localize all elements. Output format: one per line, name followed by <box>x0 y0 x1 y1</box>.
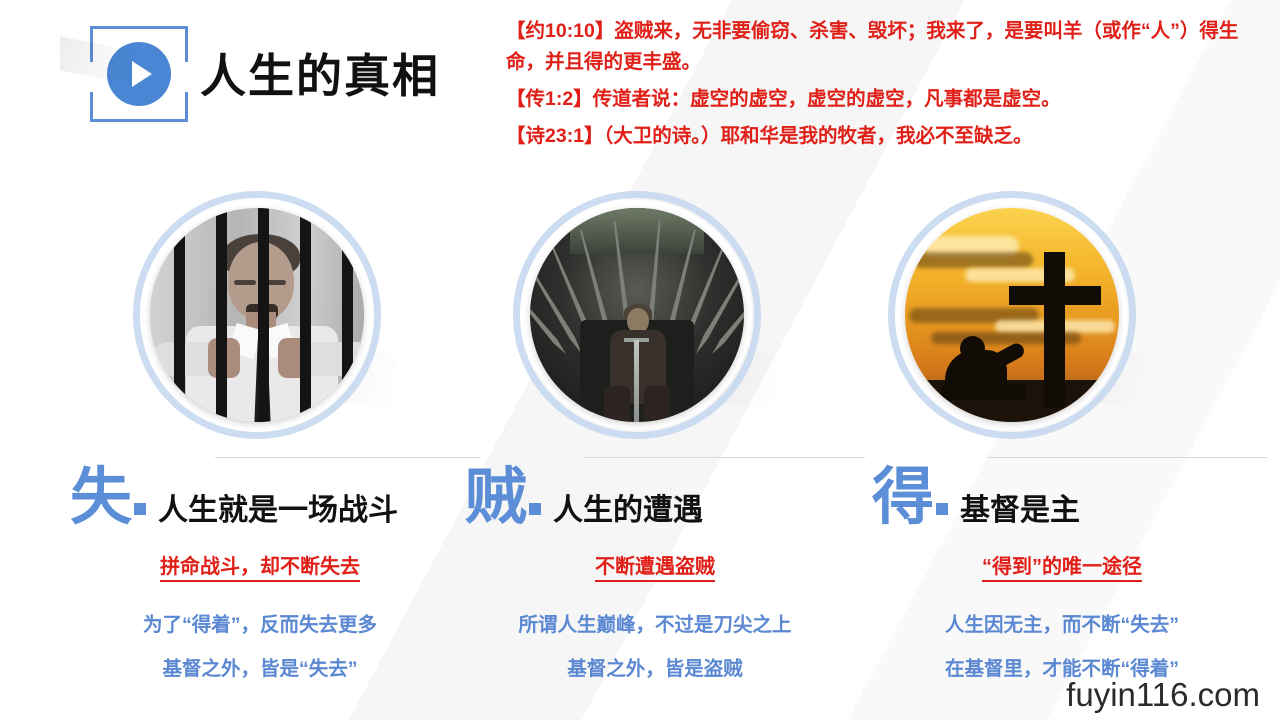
throne-backdrop <box>570 208 704 254</box>
column-1-rule <box>215 457 480 458</box>
column-3-dot <box>936 503 948 515</box>
cloud-2 <box>913 252 1033 268</box>
scene-throne <box>530 208 744 422</box>
king-leg-left <box>604 386 630 422</box>
column-3-rule <box>987 457 1267 458</box>
throne-of-swords-photo <box>530 208 744 422</box>
grayscale-overlay <box>150 208 364 422</box>
praying-person-head <box>960 336 985 361</box>
column-2-rule <box>585 457 865 458</box>
column-1-heading: 失人生就是一场战斗 <box>70 467 398 529</box>
throne-sword-10 <box>707 279 744 358</box>
column-2-heading: 贼人生的遭遇 <box>465 467 703 529</box>
column-1-sub-head: 人生就是一场战斗 <box>158 485 398 529</box>
photo-circle-2 <box>513 191 761 439</box>
column-1-big-char: 失 <box>70 467 132 529</box>
column-3-blue-line-1: 人生因无主，而不断“失去” <box>862 608 1262 637</box>
scripture-verse-2: 【传1:2】传道者说：虚空的虚空，虚空的虚空，凡事都是虚空。 <box>506 84 1276 115</box>
column-3-heading: 得基督是主 <box>872 467 1080 529</box>
site-watermark: fuyin116.com <box>1066 676 1260 714</box>
photo-circle-1 <box>133 191 381 439</box>
column-1-red-line: 拼命战斗，却不断失去 <box>60 550 460 579</box>
king-leg-right <box>644 386 670 422</box>
slide-header: 人生的真相 【约10:10】盗贼来，无非要偷窃、杀害、毁坏；我来了，是要叫羊（或… <box>0 0 1280 165</box>
praying-person-arms <box>989 341 1026 370</box>
column-2-blue-line-2: 基督之外，皆是盗贼 <box>455 652 855 681</box>
scripture-verse-1: 【约10:10】盗贼来，无非要偷窃、杀害、毁坏；我来了，是要叫羊（或作“人”）得… <box>506 16 1276 78</box>
column-2-red-line: 不断遭遇盗贼 <box>455 550 855 579</box>
column-3-big-char: 得 <box>872 467 934 529</box>
cross-crossbar <box>1009 286 1101 305</box>
column-2-dot <box>529 503 541 515</box>
column-3-sub-head: 基督是主 <box>960 485 1080 529</box>
scene-sunset-cross <box>905 208 1119 422</box>
column-2-blue-line-1: 所谓人生巅峰，不过是刀尖之上 <box>455 608 855 637</box>
page-title: 人生的真相 <box>200 40 440 106</box>
king-sword-blade <box>634 340 639 422</box>
man-behind-bars-photo <box>150 208 364 422</box>
column-2-big-char: 贼 <box>465 467 527 529</box>
cross-icon <box>1044 252 1065 408</box>
column-3-red-line: “得到”的唯一途径 <box>862 550 1262 579</box>
scripture-block: 【约10:10】盗贼来，无非要偷窃、杀害、毁坏；我来了，是要叫羊（或作“人”）得… <box>506 16 1276 152</box>
scripture-verse-3: 【诗23:1】（大卫的诗。）耶和华是我的牧者，我必不至缺乏。 <box>506 121 1276 152</box>
column-2-sub-head: 人生的遭遇 <box>553 485 703 529</box>
scene-prison <box>150 208 364 422</box>
column-1-blue-line-2: 基督之外，皆是“失去” <box>60 652 460 681</box>
throne-sword-1 <box>530 280 571 358</box>
cross-sunset-prayer-photo <box>905 208 1119 422</box>
column-1-blue-line-1: 为了“得着”，反而失去更多 <box>60 608 460 637</box>
photo-circle-3 <box>888 191 1136 439</box>
column-1-dot <box>134 503 146 515</box>
